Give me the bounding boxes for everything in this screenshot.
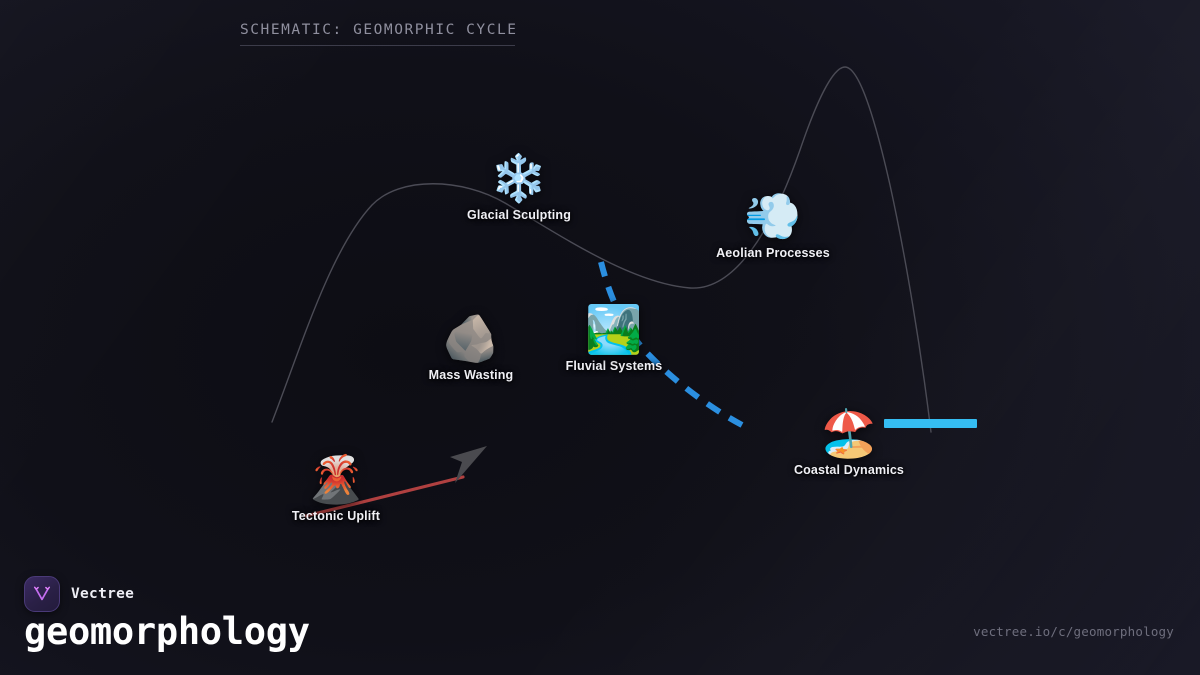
beach-umbrella-icon: 🏖️ bbox=[794, 410, 904, 456]
schematic-canvas: SCHEMATIC: GEOMORPHIC CYCLE ❄️ Glacial S… bbox=[0, 0, 1200, 675]
vectree-logo-icon bbox=[24, 576, 60, 612]
concept-node-label: Mass Wasting bbox=[429, 368, 514, 382]
concept-node-label: Tectonic Uplift bbox=[292, 509, 380, 523]
brand-name: Vectree bbox=[71, 586, 134, 602]
concept-node-label: Glacial Sculpting bbox=[467, 208, 571, 222]
relief-profile-curve bbox=[272, 67, 931, 432]
wind-dash-icon: 💨 bbox=[716, 193, 830, 239]
concept-node-coastal-dynamics[interactable]: 🏖️ Coastal Dynamics bbox=[794, 410, 904, 477]
national-park-river-icon: 🏞️ bbox=[566, 306, 663, 352]
concept-node-tectonic-uplift[interactable]: 🌋 Tectonic Uplift bbox=[292, 456, 380, 523]
snowflake-icon: ❄️ bbox=[467, 155, 571, 201]
schematic-heading-rule bbox=[240, 45, 515, 46]
topic-title: geomorphology bbox=[24, 610, 310, 653]
concept-node-aeolian-processes[interactable]: 💨 Aeolian Processes bbox=[716, 193, 830, 260]
concept-node-label: Fluvial Systems bbox=[566, 359, 663, 373]
brand-row: Vectree bbox=[24, 576, 134, 612]
concept-node-label: Aeolian Processes bbox=[716, 246, 830, 260]
volcano-icon: 🌋 bbox=[292, 456, 380, 502]
schematic-heading: SCHEMATIC: GEOMORPHIC CYCLE bbox=[240, 22, 518, 46]
concept-node-label: Coastal Dynamics bbox=[794, 463, 904, 477]
concept-node-glacial-sculpting[interactable]: ❄️ Glacial Sculpting bbox=[467, 155, 571, 222]
concept-node-mass-wasting[interactable]: 🪨 Mass Wasting bbox=[429, 315, 514, 382]
concept-node-fluvial-systems[interactable]: 🏞️ Fluvial Systems bbox=[566, 306, 663, 373]
page-url: vectree.io/c/geomorphology bbox=[973, 624, 1174, 639]
uplift-vector-arrowhead bbox=[450, 446, 487, 483]
rock-icon: 🪨 bbox=[429, 315, 514, 361]
